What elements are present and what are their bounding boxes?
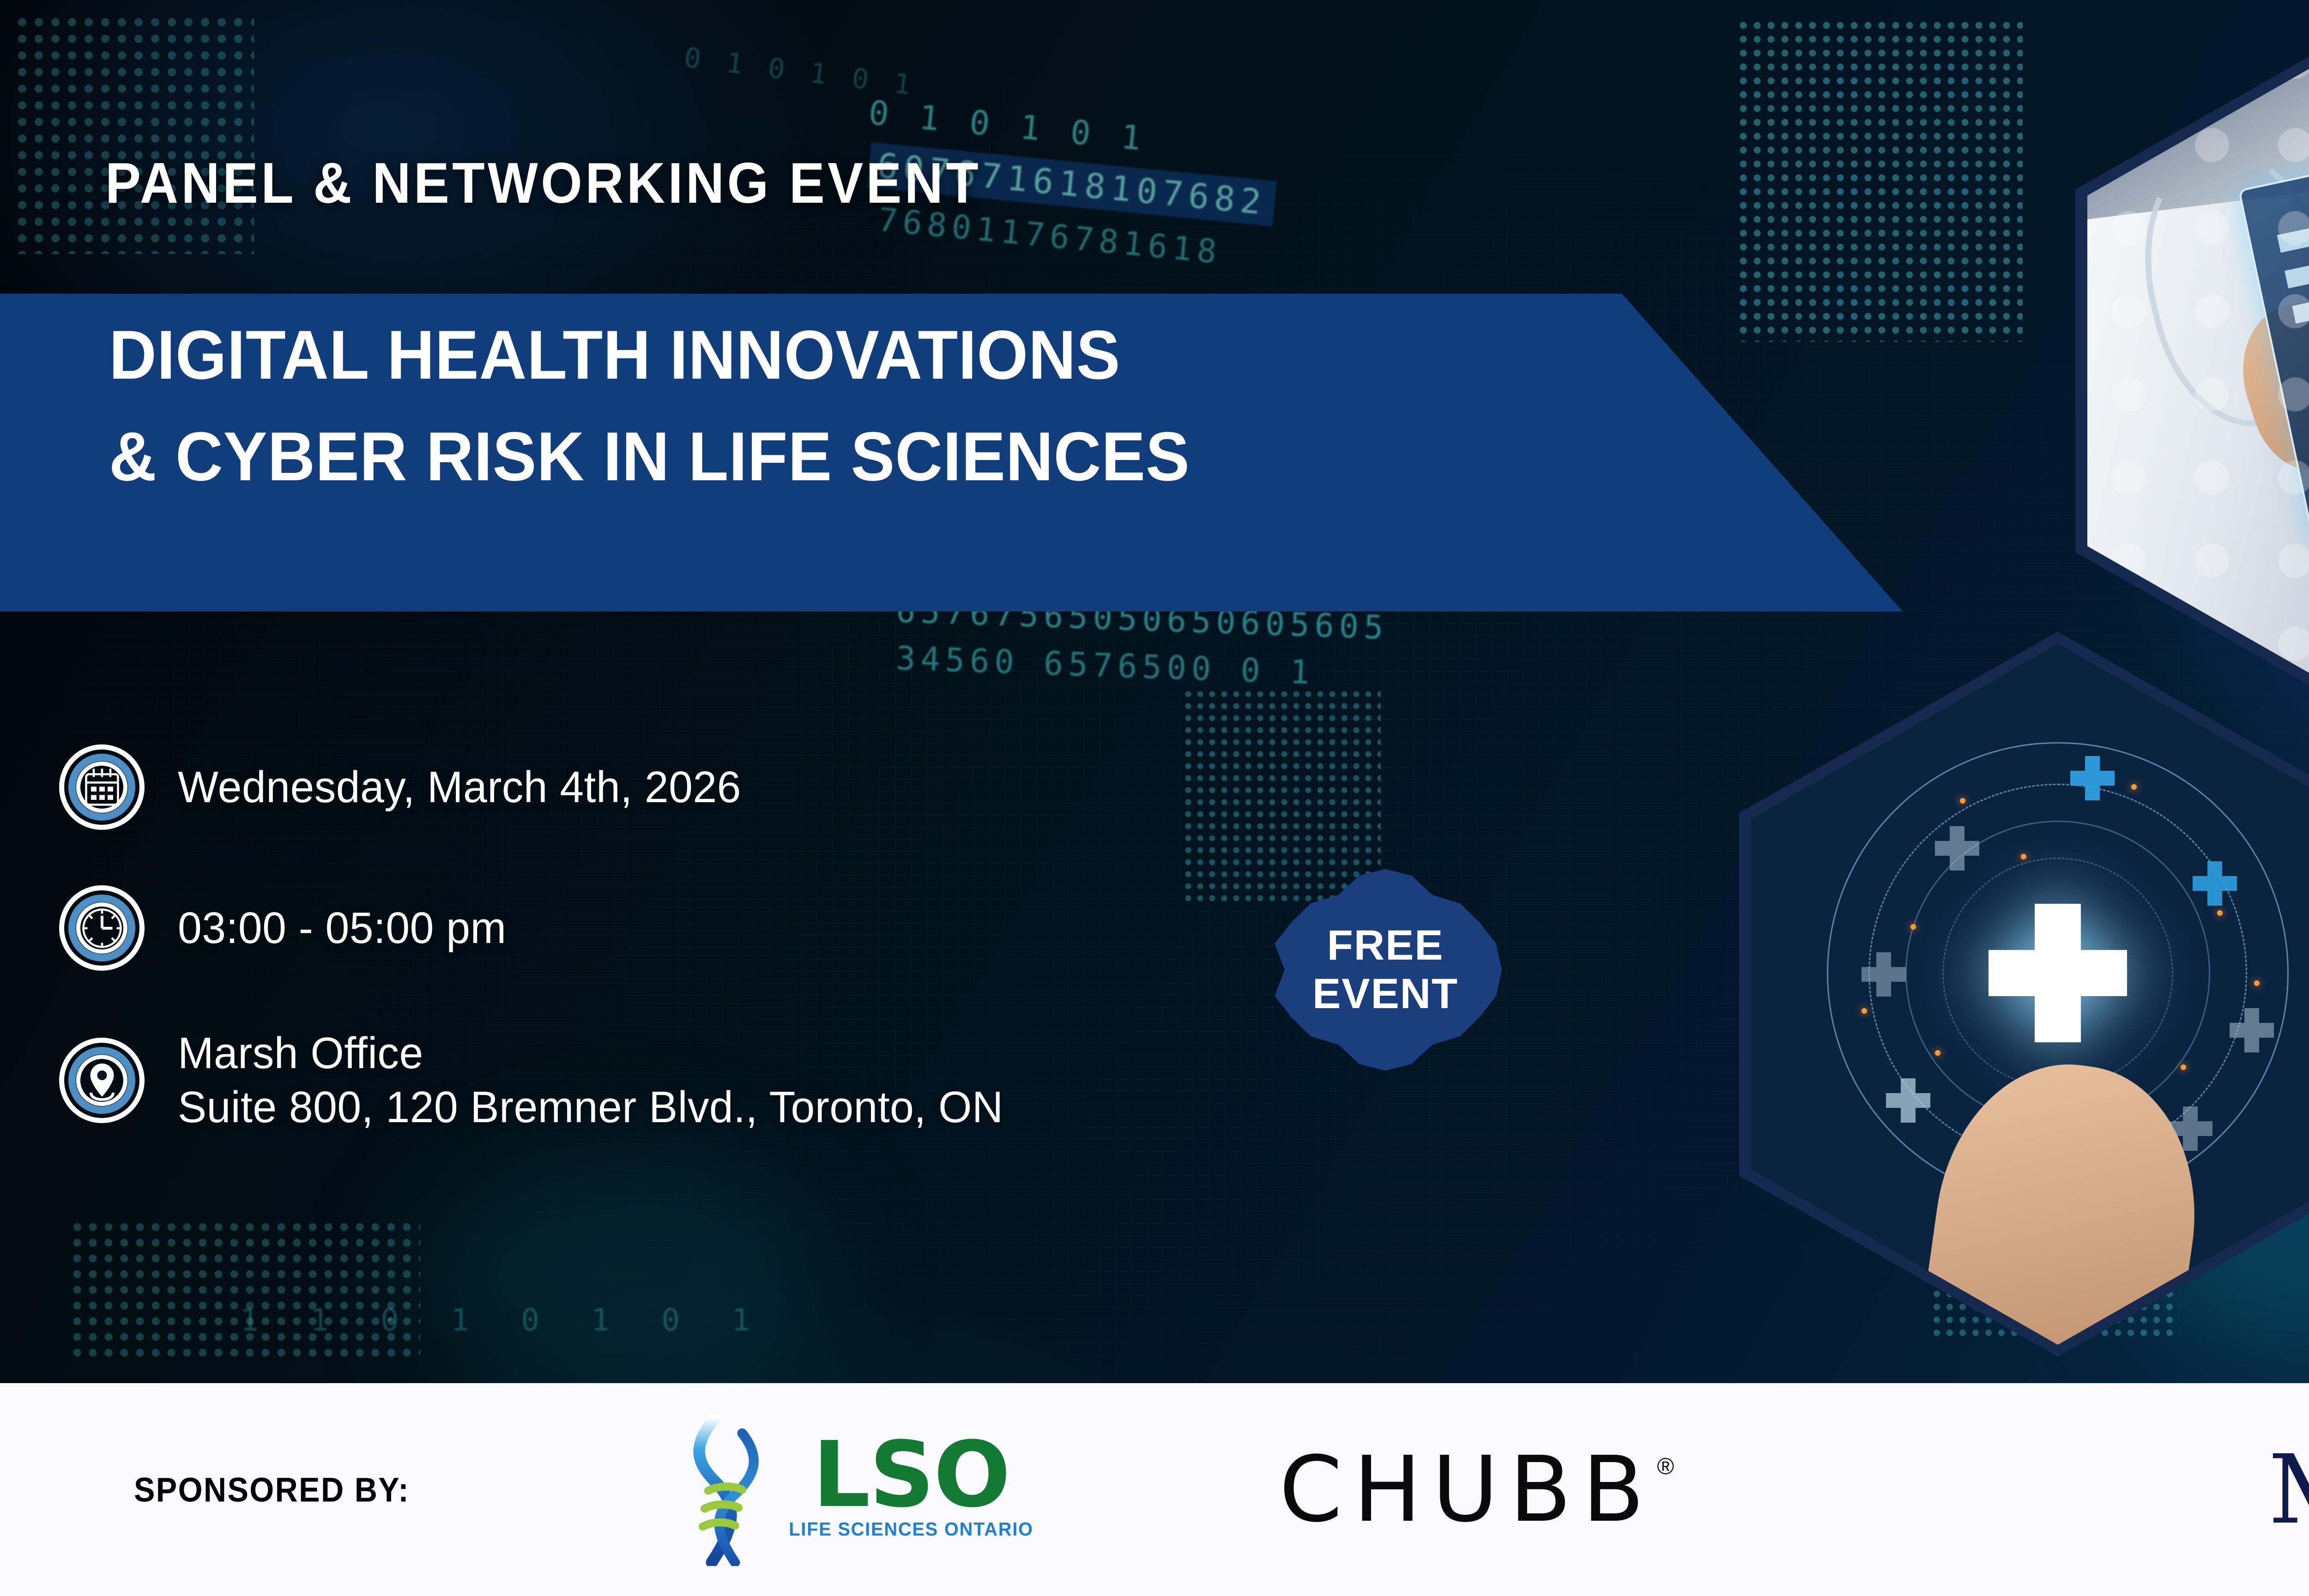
lso-acronym: LSO bbox=[813, 1439, 1010, 1511]
badge-line-1: FREE bbox=[1327, 921, 1444, 970]
cross-small bbox=[1862, 952, 1906, 997]
event-type-eyebrow: PANEL & NETWORKING EVENT bbox=[105, 155, 981, 212]
sponsor-footer: SPONSORED BY: bbox=[0, 1383, 2309, 1596]
event-date: Wednesday, March 4th, 2026 bbox=[178, 760, 741, 814]
dot-matrix-topleft bbox=[14, 14, 254, 254]
title-line-2: & CYBER RISK IN LIFE SCIENCES bbox=[109, 421, 1190, 492]
cross-small bbox=[2193, 861, 2237, 906]
lso-logo: LSO LIFE SCIENCES ONTARIO bbox=[683, 1414, 1037, 1566]
dot-matrix-bottom bbox=[69, 1219, 420, 1358]
title-line-1: DIGITAL HEALTH INNOVATIONS bbox=[109, 320, 1120, 390]
event-poster: 0 1 0 1 0 1 0 1 0 1 0 1 607671618107682 … bbox=[0, 0, 2309, 1596]
dot-matrix-top bbox=[1736, 18, 2023, 342]
chubb-wordmark: CHUBB bbox=[1279, 1445, 1655, 1535]
event-time: 03:00 - 05:00 pm bbox=[178, 901, 506, 955]
cross-small bbox=[1935, 826, 1979, 871]
lso-wordmark: LSO LIFE SCIENCES ONTARIO bbox=[785, 1439, 1037, 1541]
detail-row-date: Wednesday, March 4th, 2026 bbox=[59, 744, 1445, 830]
location-pin-icon bbox=[59, 1038, 145, 1123]
cross-small bbox=[2230, 1008, 2274, 1052]
event-details: Wednesday, March 4th, 2026 bbox=[59, 744, 1445, 1134]
detail-row-location: Marsh Office Suite 800, 120 Bremner Blvd… bbox=[59, 1026, 1445, 1134]
sponsored-by-label: SPONSORED BY: bbox=[134, 1470, 410, 1509]
detail-text-date: Wednesday, March 4th, 2026 bbox=[178, 760, 759, 814]
detail-text-time: 03:00 - 05:00 pm bbox=[178, 901, 517, 955]
title-banner: DIGITAL HEALTH INNOVATIONS & CYBER RISK … bbox=[0, 294, 1926, 611]
detail-text-location: Marsh Office Suite 800, 120 Bremner Blvd… bbox=[178, 1026, 1029, 1134]
chubb-logo: CHUBB ® bbox=[1279, 1445, 1674, 1535]
calendar-icon bbox=[59, 744, 145, 830]
glowing-medical-cross bbox=[1989, 904, 2127, 1042]
registered-trademark-icon: ® bbox=[1657, 1453, 1674, 1480]
venue-name: Marsh Office bbox=[178, 1026, 1003, 1080]
badge-line-2: EVENT bbox=[1312, 970, 1458, 1018]
venue-address: Suite 800, 120 Bremner Blvd., Toronto, O… bbox=[178, 1080, 1003, 1134]
lso-subtitle: LIFE SCIENCES ONTARIO bbox=[789, 1518, 1034, 1540]
clock-icon bbox=[59, 885, 145, 971]
detail-row-time: 03:00 - 05:00 pm bbox=[59, 885, 1445, 971]
marsh-logo: MARSH bbox=[2268, 1442, 2309, 1537]
cross-small bbox=[2070, 756, 2115, 800]
dna-helix-icon bbox=[683, 1414, 776, 1566]
cross-small bbox=[1886, 1078, 1930, 1123]
